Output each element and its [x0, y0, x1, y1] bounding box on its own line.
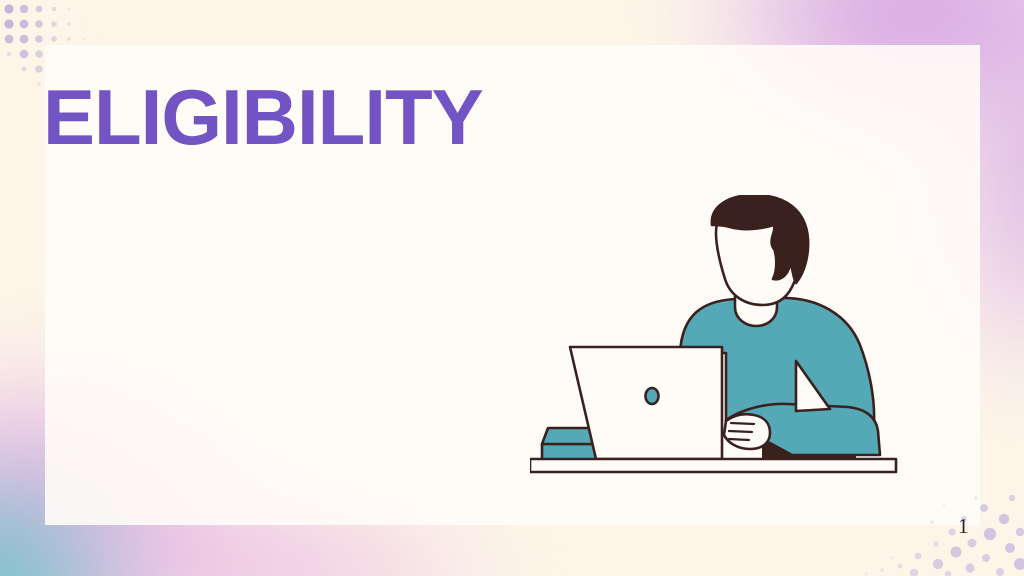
page-title: ELIGIBILITY — [43, 78, 483, 156]
bottom-right-dot-scatter-icon — [844, 486, 1024, 576]
slide: ELIGIBILITY — [0, 0, 1024, 576]
person-working-on-laptop-illustration — [530, 195, 930, 480]
page-number: 1 — [958, 516, 969, 537]
